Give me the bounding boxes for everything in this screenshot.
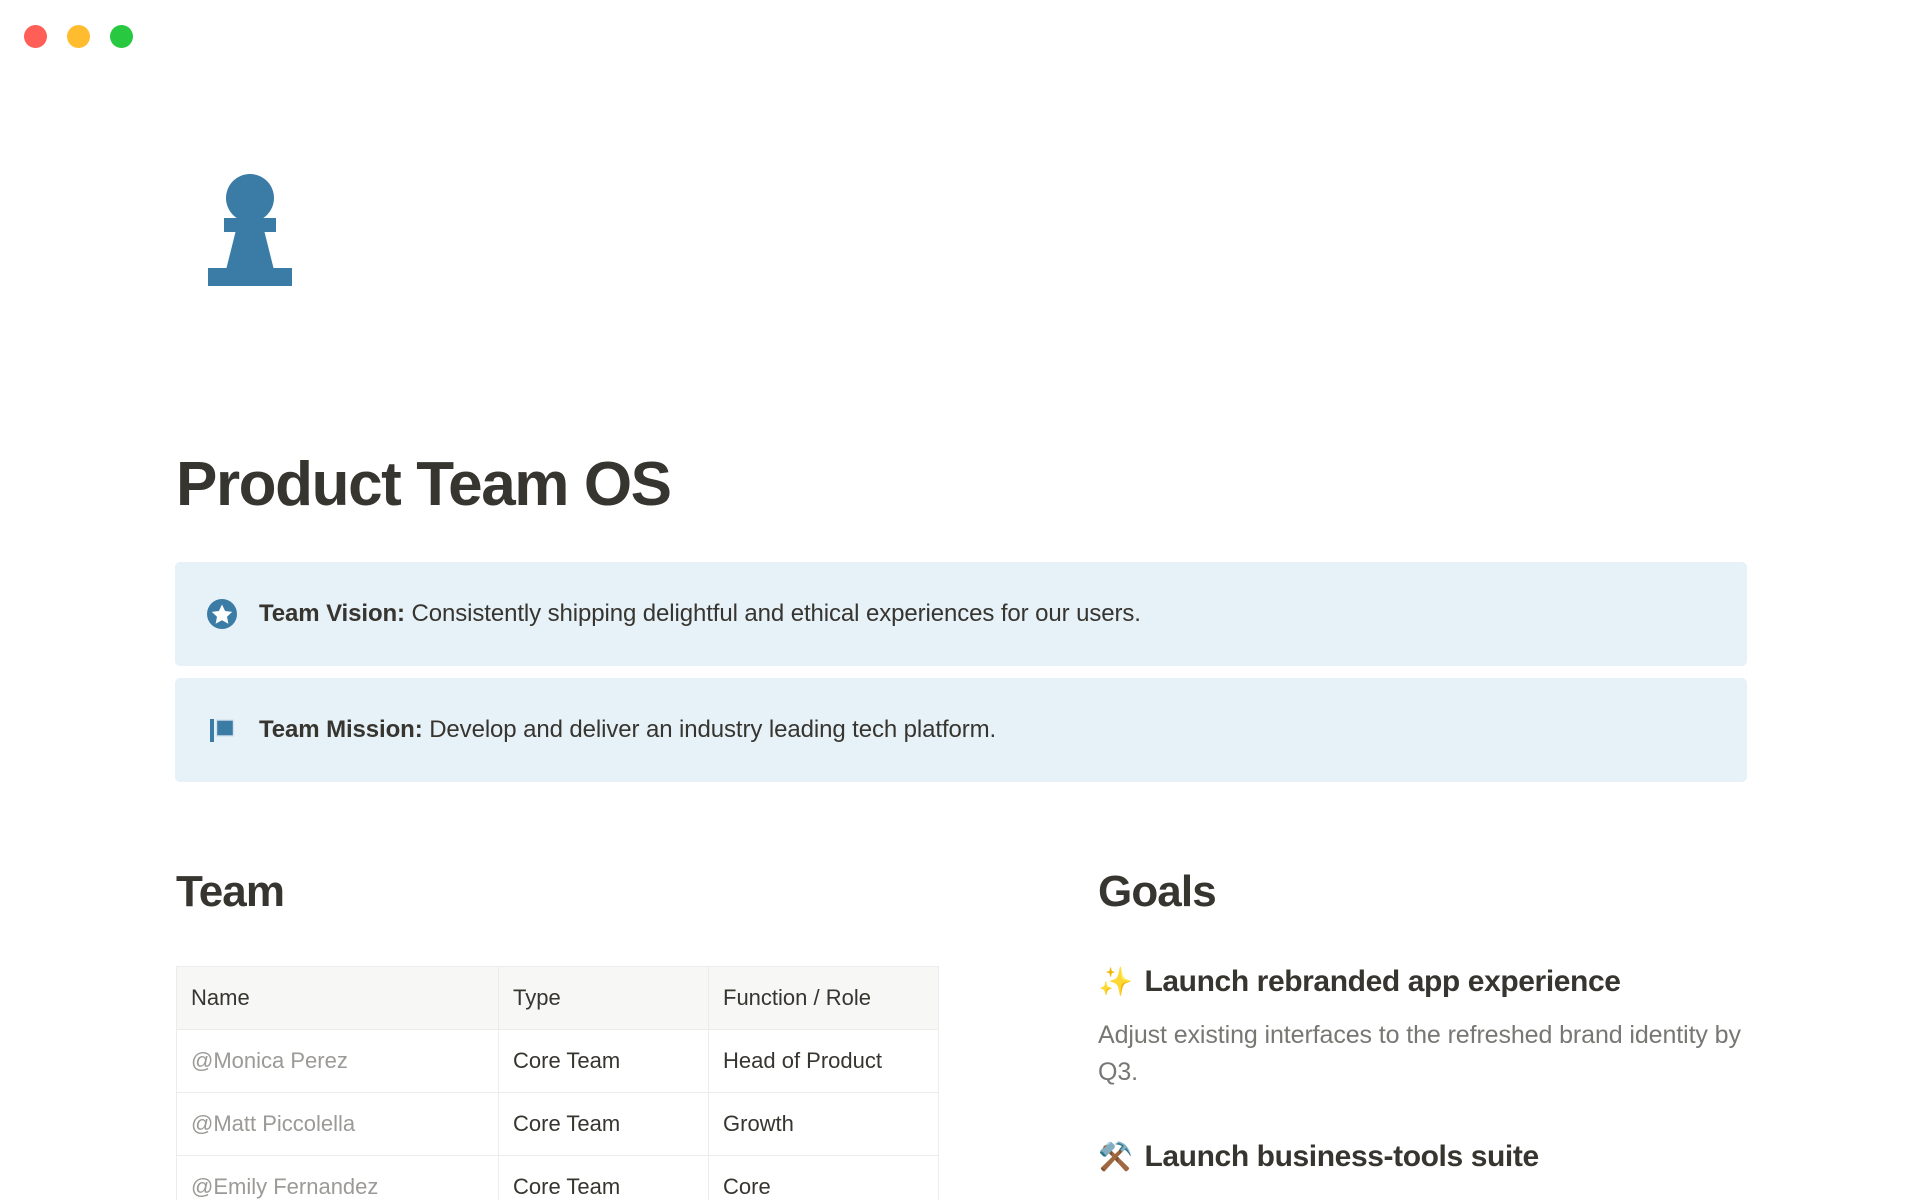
team-heading: Team: [176, 868, 946, 916]
chess-pawn-icon[interactable]: [198, 172, 302, 288]
close-button[interactable]: [24, 25, 47, 48]
hammer-and-wrench-icon: ⚒️: [1098, 1143, 1132, 1171]
cell-type[interactable]: Core Team: [499, 1030, 709, 1093]
window-titlebar: [0, 0, 1920, 72]
goal-title-row: ✨ Launch rebranded app experience: [1098, 962, 1798, 1001]
callout-mission-body: Develop and deliver an industry leading …: [423, 716, 997, 743]
callout-team-mission[interactable]: Team Mission: Develop and deliver an ind…: [175, 678, 1747, 782]
page-body: Product Team OS Team Vision: Consistentl…: [0, 72, 1920, 1200]
goals-section: Goals ✨ Launch rebranded app experience …: [1098, 868, 1798, 1200]
table-row[interactable]: @Matt Piccolella Core Team Growth: [177, 1093, 939, 1156]
column-header-type[interactable]: Type: [499, 967, 709, 1030]
goals-heading: Goals: [1098, 868, 1798, 916]
sparkles-icon: ✨: [1098, 968, 1132, 996]
goal-description: Build a competitive feature set for our …: [1098, 1192, 1758, 1200]
goal-item: ⚒️ Launch business-tools suite Build a c…: [1098, 1137, 1798, 1200]
cell-role[interactable]: Growth: [709, 1093, 939, 1156]
page-title: Product Team OS: [176, 452, 671, 517]
cell-name[interactable]: @Monica Perez: [177, 1030, 499, 1093]
flag-icon: [205, 713, 239, 747]
callout-mission-text: Team Mission: Develop and deliver an ind…: [259, 713, 996, 747]
goal-description: Adjust existing interfaces to the refres…: [1098, 1017, 1758, 1091]
goal-title-row: ⚒️ Launch business-tools suite: [1098, 1137, 1798, 1176]
minimize-button[interactable]: [67, 25, 90, 48]
callout-vision-text: Team Vision: Consistently shipping delig…: [259, 597, 1141, 631]
star-circle-icon: [205, 597, 239, 631]
table-header-row: Name Type Function / Role: [177, 967, 939, 1030]
callout-mission-label: Team Mission:: [259, 716, 423, 743]
table-row[interactable]: @Monica Perez Core Team Head of Product: [177, 1030, 939, 1093]
goal-title-text: Launch rebranded app experience: [1144, 962, 1620, 1001]
column-header-role[interactable]: Function / Role: [709, 967, 939, 1030]
cell-type[interactable]: Core Team: [499, 1093, 709, 1156]
app-window: Product Team OS Team Vision: Consistentl…: [0, 0, 1920, 1200]
callout-vision-label: Team Vision:: [259, 600, 405, 627]
callout-team-vision[interactable]: Team Vision: Consistently shipping delig…: [175, 562, 1747, 666]
goal-title-text: Launch business-tools suite: [1144, 1137, 1538, 1176]
table-row[interactable]: @Emily Fernandez Core Team Core: [177, 1156, 939, 1200]
team-section: Team Name Type Function / Role: [176, 868, 946, 1200]
traffic-lights: [24, 25, 133, 48]
cell-role[interactable]: Core: [709, 1156, 939, 1200]
callout-vision-body: Consistently shipping delightful and eth…: [405, 600, 1141, 627]
cell-name[interactable]: @Emily Fernandez: [177, 1156, 499, 1200]
cell-role[interactable]: Head of Product: [709, 1030, 939, 1093]
cell-type[interactable]: Core Team: [499, 1156, 709, 1200]
team-table: Name Type Function / Role @Monica Perez …: [176, 966, 939, 1200]
maximize-button[interactable]: [110, 25, 133, 48]
cell-name[interactable]: @Matt Piccolella: [177, 1093, 499, 1156]
column-header-name[interactable]: Name: [177, 967, 499, 1030]
goal-item: ✨ Launch rebranded app experience Adjust…: [1098, 962, 1798, 1091]
